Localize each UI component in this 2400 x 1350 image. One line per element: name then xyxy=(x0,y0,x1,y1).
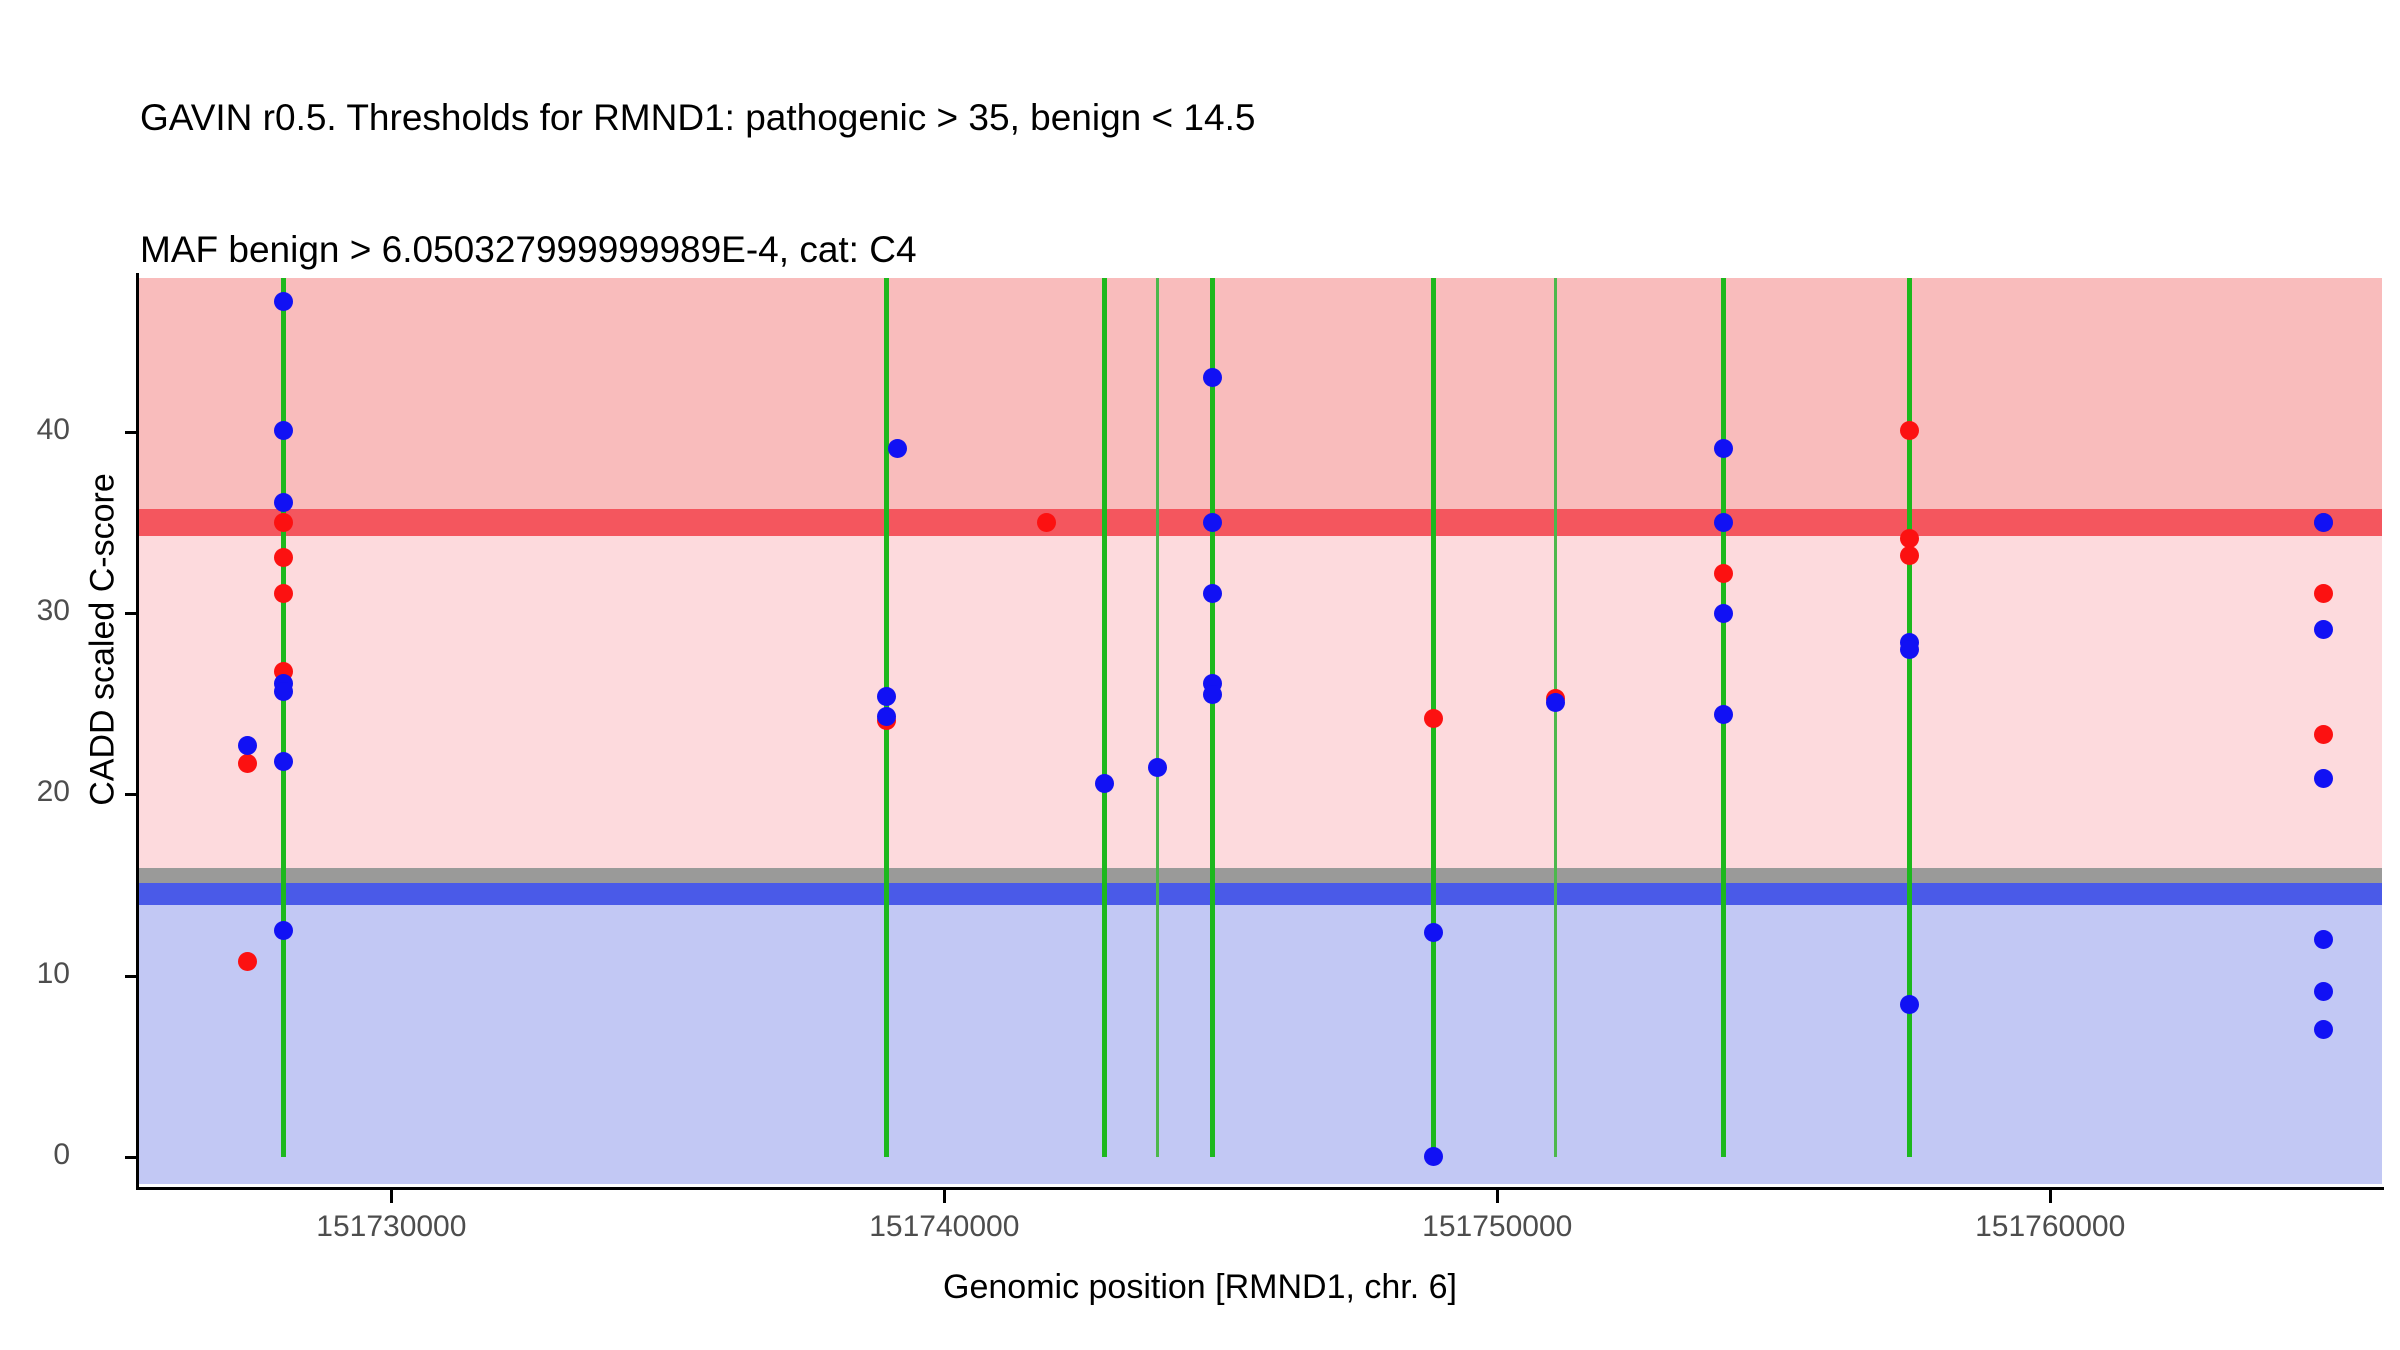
x-tick-mark xyxy=(2049,1190,2052,1203)
pathogenic-threshold-line xyxy=(137,509,2382,536)
exon-line-6 xyxy=(1554,278,1557,1157)
title-line-2: MAF benign > 6.050327999999989E-4, cat: … xyxy=(140,228,2340,272)
data-point xyxy=(274,292,293,311)
x-tick-label: 151740000 xyxy=(794,1210,1094,1244)
data-point xyxy=(274,548,293,567)
data-point xyxy=(1148,758,1167,777)
band-pathogenic-lower xyxy=(137,523,2382,876)
data-point xyxy=(1900,995,1919,1014)
x-tick-label: 151750000 xyxy=(1347,1210,1647,1244)
data-point xyxy=(1424,923,1443,942)
data-point xyxy=(2314,769,2333,788)
band-benign xyxy=(137,894,2382,1184)
exon-line-4 xyxy=(1210,278,1215,1157)
data-point xyxy=(238,952,257,971)
y-tick-mark xyxy=(125,431,137,434)
data-point xyxy=(274,421,293,440)
x-tick-mark xyxy=(1496,1190,1499,1203)
plot-clip-region xyxy=(137,278,2382,1184)
data-point xyxy=(877,687,896,706)
data-point xyxy=(1546,693,1565,712)
x-tick-label: 151730000 xyxy=(241,1210,541,1244)
data-point xyxy=(1424,709,1443,728)
data-point xyxy=(274,682,293,701)
y-tick-label: 40 xyxy=(0,413,70,447)
benign-threshold-line xyxy=(137,883,2382,905)
x-tick-label: 151760000 xyxy=(1900,1210,2200,1244)
data-point xyxy=(1900,421,1919,440)
y-tick-label: 0 xyxy=(0,1138,70,1172)
x-axis-title: Genomic position [RMND1, chr. 6] xyxy=(0,1268,2400,1307)
y-tick-mark xyxy=(125,975,137,978)
data-point xyxy=(1203,513,1222,532)
y-tick-label: 10 xyxy=(0,957,70,991)
data-point xyxy=(274,921,293,940)
data-point xyxy=(888,439,907,458)
data-point xyxy=(1900,640,1919,659)
y-axis-spine xyxy=(136,273,139,1189)
data-point xyxy=(1900,546,1919,565)
band-pathogenic-upper xyxy=(137,278,2382,523)
y-tick-label: 20 xyxy=(0,775,70,809)
data-point xyxy=(1203,584,1222,603)
y-tick-mark xyxy=(125,612,137,615)
data-point xyxy=(274,584,293,603)
exon-line-8 xyxy=(1907,278,1912,1157)
y-tick-mark xyxy=(125,793,137,796)
y-tick-label: 30 xyxy=(0,594,70,628)
data-point xyxy=(877,707,896,726)
fallback-threshold-line xyxy=(137,868,2382,884)
plot-panel xyxy=(137,278,2382,1184)
y-axis-title: CADD scaled C-score xyxy=(84,240,123,1040)
exon-line-0 xyxy=(281,278,286,1157)
exon-line-3 xyxy=(1156,278,1159,1157)
data-point xyxy=(274,513,293,532)
title-line-1: GAVIN r0.5. Thresholds for RMND1: pathog… xyxy=(140,96,2340,140)
x-tick-mark xyxy=(390,1190,393,1203)
exon-line-2 xyxy=(1102,278,1107,1157)
data-point xyxy=(238,736,257,755)
x-axis-spine xyxy=(136,1187,2384,1190)
y-tick-mark xyxy=(125,1156,137,1159)
data-point xyxy=(1203,368,1222,387)
x-tick-mark xyxy=(943,1190,946,1203)
